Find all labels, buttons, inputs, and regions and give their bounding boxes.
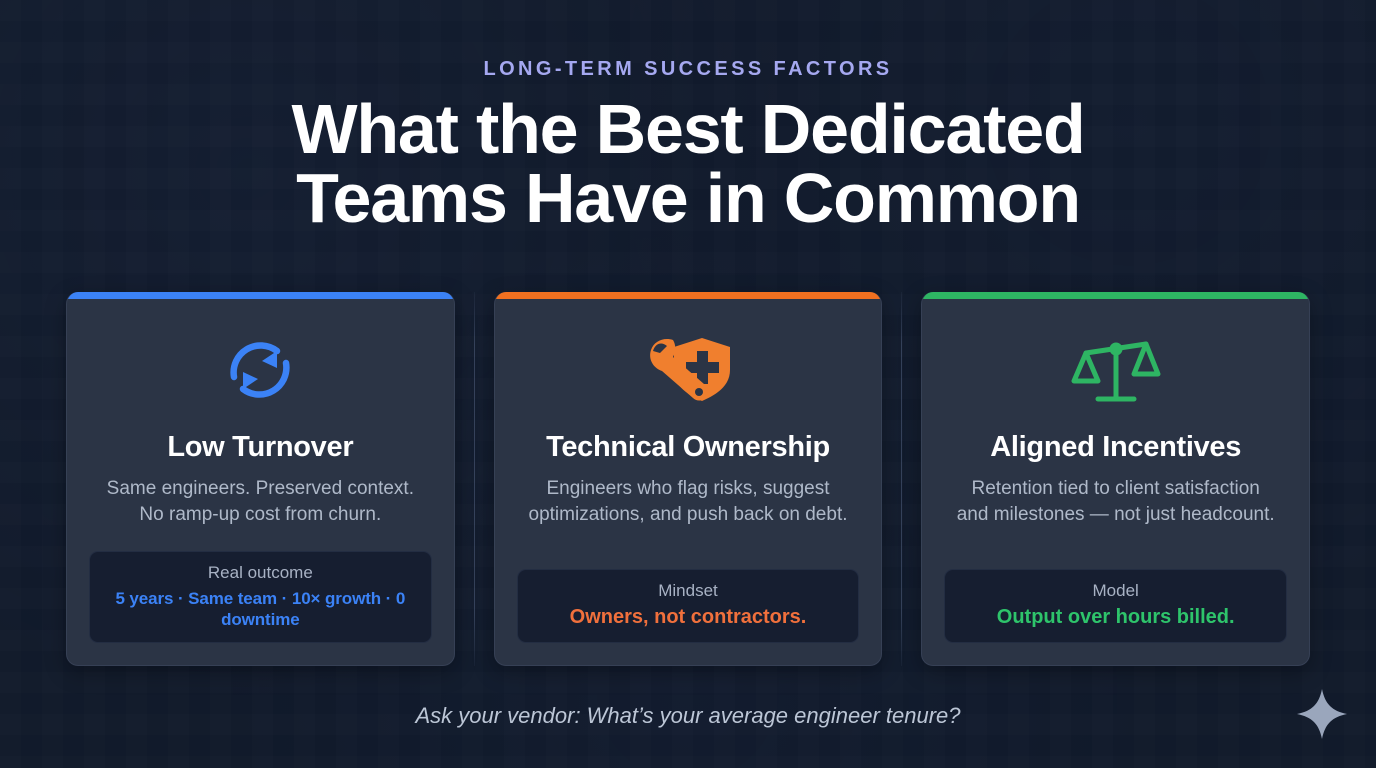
- feature-card-group: Low Turnover Same engineers. Preserved c…: [66, 292, 1310, 666]
- card-footer-panel: Mindset Owners, not contractors.: [517, 569, 860, 643]
- card-title: Technical Ownership: [546, 431, 830, 464]
- card-title: Low Turnover: [167, 431, 353, 464]
- card-accent-bar: [922, 292, 1309, 299]
- card-footer-panel: Real outcome 5 years · Same team · 10× g…: [89, 551, 432, 643]
- card-description-line-1: Engineers who flag risks, suggest: [546, 478, 829, 499]
- card-footer-value: 5 years · Same team · 10× growth · 0 dow…: [100, 588, 421, 631]
- wrench-shield-icon: [640, 327, 736, 413]
- feature-card-low-turnover[interactable]: Low Turnover Same engineers. Preserved c…: [66, 292, 455, 666]
- card-footer-panel: Model Output over hours billed.: [944, 569, 1287, 643]
- page-title-line-1: What the Best Dedicated: [0, 95, 1376, 164]
- card-description-line-1: Same engineers. Preserved context.: [107, 478, 414, 499]
- card-footer-label: Real outcome: [100, 562, 421, 584]
- card-description-line-2: No ramp-up cost from churn.: [139, 504, 381, 525]
- card-description-line-2: optimizations, and push back on debt.: [529, 504, 848, 525]
- card-description: Same engineers. Preserved context. No ra…: [85, 476, 436, 528]
- card-footer-value: Output over hours billed.: [955, 605, 1276, 630]
- refresh-cycle-icon: [217, 327, 303, 413]
- eyebrow-label: LONG-TERM SUCCESS FACTORS: [0, 58, 1376, 81]
- card-divider: [901, 292, 902, 666]
- feature-card-aligned-incentives[interactable]: Aligned Incentives Retention tied to cli…: [921, 292, 1310, 666]
- feature-card-technical-ownership[interactable]: Technical Ownership Engineers who flag r…: [494, 292, 883, 666]
- card-footer-label: Mindset: [528, 580, 849, 602]
- card-description-line-2: and milestones — not just headcount.: [957, 504, 1275, 525]
- slide-canvas: LONG-TERM SUCCESS FACTORS What the Best …: [0, 0, 1376, 768]
- card-footer-label: Model: [955, 580, 1276, 602]
- card-description: Engineers who flag risks, suggest optimi…: [507, 476, 870, 528]
- page-title-line-2: Teams Have in Common: [0, 164, 1376, 233]
- sparkle-icon: [1294, 686, 1350, 747]
- card-footer-value: Owners, not contractors.: [528, 605, 849, 630]
- footer-note: Ask your vendor: What’s your average eng…: [0, 703, 1376, 729]
- card-description-line-1: Retention tied to client satisfaction: [972, 478, 1260, 499]
- page-title: What the Best Dedicated Teams Have in Co…: [0, 95, 1376, 234]
- card-accent-bar: [495, 292, 882, 299]
- card-title: Aligned Incentives: [990, 431, 1241, 464]
- balance-scales-icon: [1070, 327, 1162, 413]
- header: LONG-TERM SUCCESS FACTORS What the Best …: [0, 0, 1376, 234]
- card-description: Retention tied to client satisfaction an…: [935, 476, 1297, 528]
- card-divider: [474, 292, 475, 666]
- card-accent-bar: [67, 292, 454, 299]
